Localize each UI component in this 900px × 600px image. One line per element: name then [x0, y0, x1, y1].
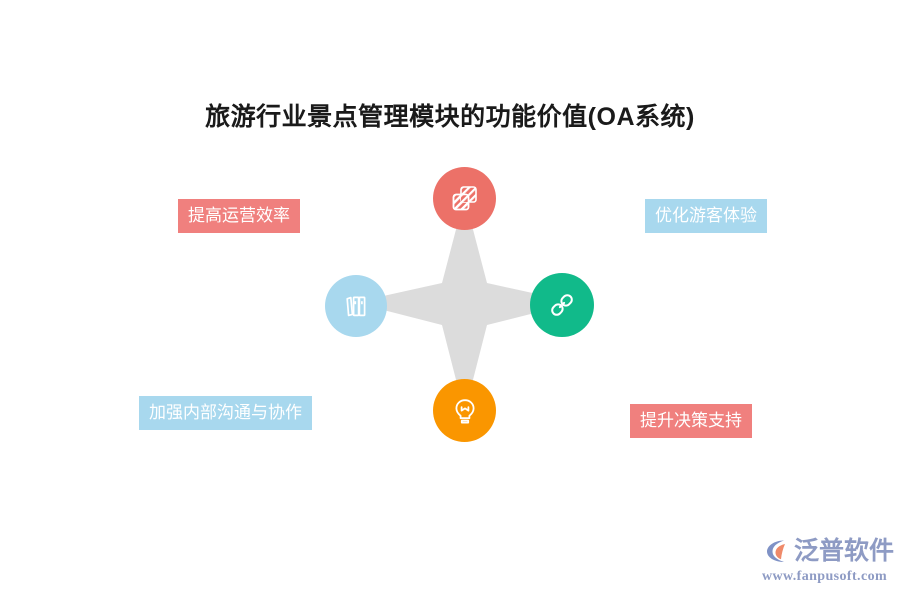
books-icon: [342, 292, 370, 320]
lightbulb-icon: [450, 396, 480, 426]
logo-url-text: www.fanpusoft.com: [762, 569, 890, 585]
node-right-link[interactable]: [530, 273, 594, 337]
label-strengthen-internal-communication[interactable]: 加强内部沟通与协作: [139, 396, 312, 430]
label-improve-efficiency[interactable]: 提高运营效率: [178, 199, 300, 233]
link-chain-icon: [547, 290, 577, 320]
node-bottom-lightbulb[interactable]: [433, 379, 496, 442]
page-canvas: 旅游行业景点管理模块的功能价值(OA系统): [0, 0, 900, 600]
central-diagram: [305, 155, 625, 455]
layers-icon: [450, 184, 480, 214]
node-top-layers[interactable]: [433, 167, 496, 230]
fanpu-logo-mark: [762, 536, 792, 566]
page-title: 旅游行业景点管理模块的功能价值(OA系统): [0, 100, 900, 134]
brand-logo: 泛普软件 www.fanpusoft.com: [762, 534, 890, 588]
label-optimize-visitor-experience[interactable]: 优化游客体验: [645, 199, 767, 233]
label-enhance-decision-support[interactable]: 提升决策支持: [630, 404, 752, 438]
node-left-books[interactable]: [325, 275, 387, 337]
logo-row: 泛普软件: [762, 534, 890, 568]
logo-brand-text: 泛普软件: [794, 536, 894, 566]
